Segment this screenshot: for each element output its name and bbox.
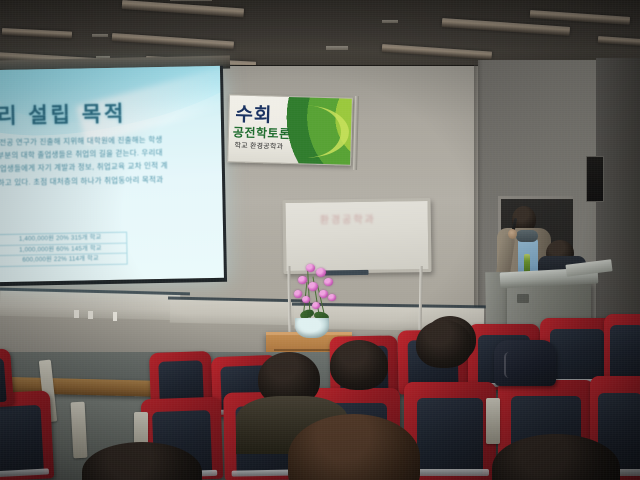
green-bottle[interactable]: [524, 254, 530, 272]
backpack-strap: [504, 352, 514, 378]
audience-member-head: [416, 320, 472, 368]
projection-screen: 아리 설립 목적 엽에 고 전공 연구가 진출해 지위해 대학원에 진출해는 학…: [0, 66, 227, 286]
ceiling-light-fixture: [382, 44, 492, 60]
ceiling-light-fixture: [442, 18, 570, 36]
orchid-bloom: [302, 296, 310, 303]
ceiling-light-fixture: [2, 28, 72, 39]
ceiling-light-fixture: [112, 33, 234, 49]
orchid-bloom: [312, 302, 320, 309]
presenter-hand: [508, 229, 517, 239]
slide-title: 아리 설립 목적: [0, 98, 127, 131]
orchid-bloom: [308, 282, 318, 291]
whiteboard-writing: 환경공학과: [320, 211, 376, 227]
ceiling-light-fixture: [122, 0, 244, 17]
audience-member-head: [330, 340, 388, 390]
orchid-bloom: [298, 276, 307, 284]
ceiling-light-fixture: [598, 36, 640, 46]
slide-body-text: 엽에 고 전공 연구가 진출해 지위해 대학원에 진출해는 학생 고는 대부분의…: [0, 132, 212, 189]
ceiling-sprinkler: [382, 20, 398, 23]
backpack-on-seat[interactable]: [494, 340, 556, 386]
orchid-bloom: [294, 290, 302, 298]
wall-banner: 수회 공전학토론 학교 환경공학과: [227, 94, 353, 165]
seat-armrest: [486, 398, 500, 444]
glass-pot: [295, 318, 329, 338]
banner-subtitle: 공전학토론: [233, 123, 291, 142]
banner-department-text: 학교 환경공학과: [234, 140, 283, 151]
slide-data-table: 1,400,000원 20% 315개 학교 1,000,000원 60% 14…: [0, 232, 128, 267]
ceiling-vent: [170, 0, 212, 1]
podium-control-panel[interactable]: [517, 294, 529, 303]
orchid-bloom: [306, 264, 315, 272]
wall-outlet[interactable]: [74, 310, 79, 318]
orchid-bloom: [316, 268, 326, 277]
lecture-hall-photo: 아리 설립 목적 엽에 고 전공 연구가 진출해 지위해 대학원에 진출해는 학…: [0, 0, 640, 480]
wall-outlet[interactable]: [88, 311, 93, 319]
wall-mounted-speaker: [586, 156, 604, 202]
wall-switch[interactable]: [113, 312, 117, 321]
seat-armrest: [71, 402, 88, 459]
orchid-bloom: [319, 290, 328, 298]
purple-orchid: [292, 262, 336, 324]
orchid-bloom: [328, 294, 336, 301]
ceiling-light-fixture: [530, 10, 630, 25]
wainscot-panel: [170, 299, 300, 326]
slide-table-row: 600,000원 22% 114개 학교: [0, 254, 127, 267]
orchid-bloom: [324, 278, 333, 286]
ceiling-vent: [326, 46, 348, 50]
auditorium-seat[interactable]: [604, 314, 640, 384]
presenter-collar: [516, 230, 538, 242]
ceiling-sprinkler: [92, 34, 108, 37]
